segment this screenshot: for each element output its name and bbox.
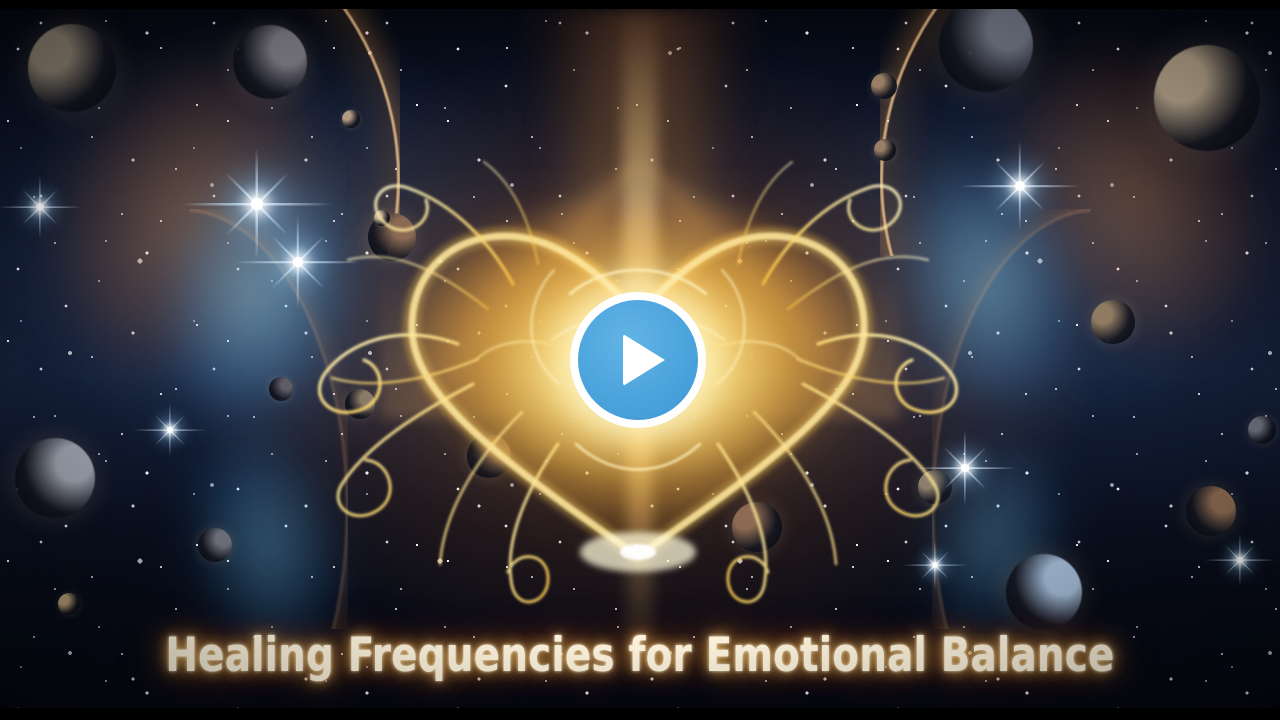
letterbox-bar-bottom [0,708,1280,720]
flare-core [293,257,304,268]
video-title: Healing Frequencies for Emotional Balanc… [51,628,1229,683]
moon-center-bottom [467,434,511,478]
flare-spike-horizontal [0,206,82,207]
flare-spike-vertical [1019,141,1021,231]
flare-core [932,562,938,568]
flare-spike-diagonal-b [1225,545,1255,575]
flare-spike-vertical [1240,533,1241,587]
flare-spike-vertical [256,148,258,261]
video-thumbnail[interactable]: Healing Frequencies for Emotional Balanc… [0,0,1280,720]
flare-core [251,198,264,211]
moon-right-small [918,470,952,504]
flare-spike-horizontal [1204,560,1276,561]
moon-lower-right-blue [1006,554,1082,630]
moon-lower-mid-left [198,528,232,562]
flare-core [1015,181,1025,191]
flare-spike-horizontal [914,467,1016,468]
flare-spike-diagonal-a [22,189,57,224]
nebula-cyan-right-lower [911,428,1080,651]
nebula-orange-left [0,9,382,421]
flare-spike-diagonal-a [155,415,185,445]
moon-center-left [345,389,375,419]
moon-mid-far-right [1248,416,1276,444]
moon-bottom-left-tiny [58,593,80,615]
moon-mid-right [1091,300,1135,344]
flare-spike-diagonal-b [943,446,986,489]
flare-core [1237,557,1243,563]
flare-spike-vertical [935,540,936,590]
flare-spike-diagonal-b [22,189,57,224]
moon-right-ring [871,73,897,99]
flare-spike-diagonal-b [995,161,1046,212]
flare-spike-diagonal-a [225,172,288,235]
flare-spike-diagonal-a [921,551,949,579]
flare-spike-horizontal [960,185,1080,187]
moon-mid-left [269,377,293,401]
moon-bottom-center [732,502,782,552]
flare-core [37,204,44,211]
moon-top-left-mid [233,25,307,99]
flare-spike-vertical [297,215,299,310]
flare-spike-diagonal-b [271,235,324,288]
flare-spike-diagonal-a [1225,545,1255,575]
flare-spike-vertical [39,176,40,239]
shoulder-arc-right [880,9,1280,499]
flare-core [167,427,173,433]
moon-lower-right-brown [1186,486,1236,536]
flare-spike-vertical [964,430,965,507]
moon-right-ring-b [874,139,896,161]
flare-spike-horizontal [182,203,332,205]
moon-top-right-mid [939,9,1033,92]
flare-spike-diagonal-a [943,446,986,489]
flare-spike-diagonal-b [921,551,949,579]
shoulder-arc-left [0,9,400,499]
flare-spike-horizontal [134,430,206,431]
moon-small-left-a [374,210,390,226]
flare-spike-diagonal-a [271,235,324,288]
flare-spike-diagonal-b [155,415,185,445]
play-button-disc [578,300,698,420]
moon-upper-mid-left [368,213,416,261]
flare-spike-diagonal-b [225,172,288,235]
play-button[interactable] [570,292,706,428]
nebula-orange-right [950,9,1280,399]
flare-spike-horizontal [235,261,361,263]
moon-top-right-large [1154,45,1260,151]
play-triangle-icon [623,334,665,386]
letterbox-bar-top [0,0,1280,9]
neck-shadow [460,9,820,269]
flare-spike-horizontal [902,565,968,566]
nebula-cyan-right-upper [869,140,1101,427]
moon-bottom-left-big [15,438,95,518]
moon-top-center-small [342,110,360,128]
flare-spike-diagonal-a [995,161,1046,212]
flare-core [961,464,970,473]
moon-top-left-large [28,24,116,112]
nebula-cyan-left-upper [140,141,380,447]
flare-spike-vertical [170,403,171,457]
